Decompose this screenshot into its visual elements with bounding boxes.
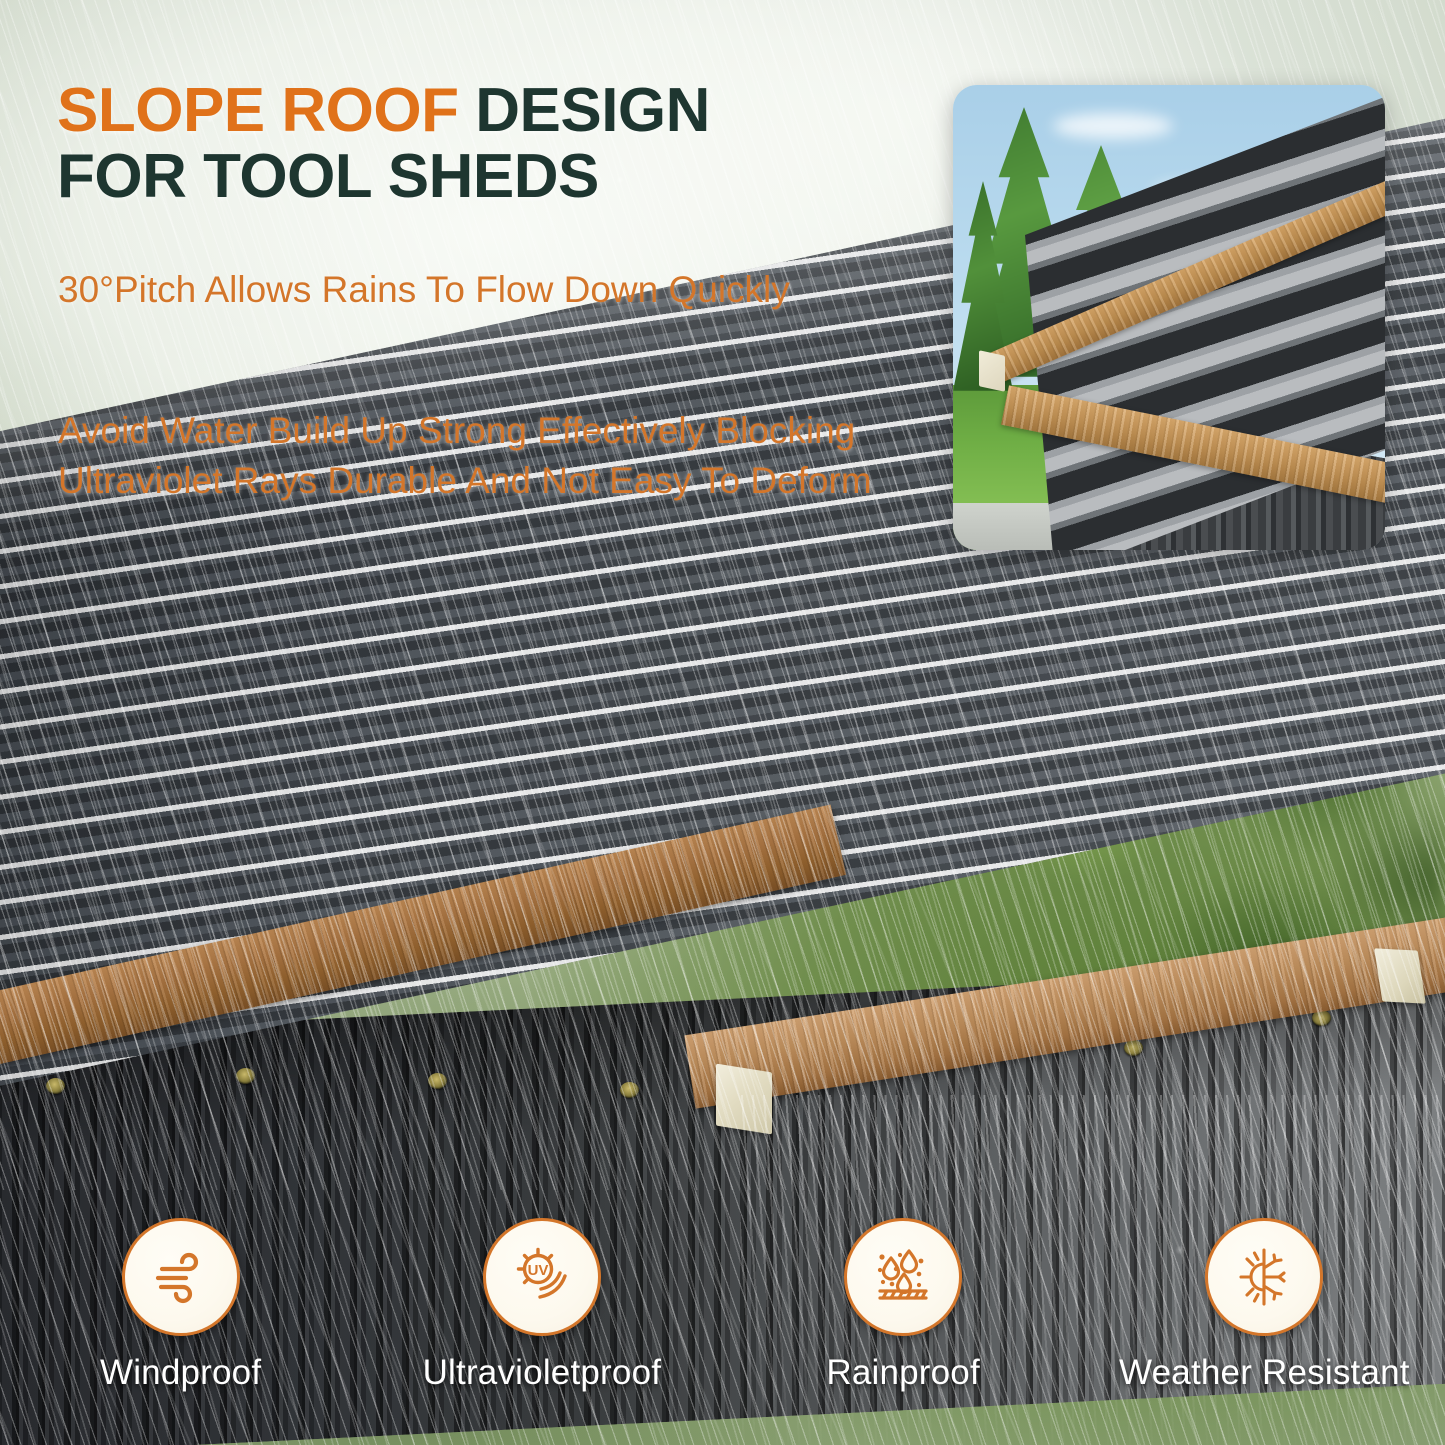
- raindrop-icon: [870, 1244, 936, 1310]
- feature-list: Windproof UV Ul: [0, 1218, 1445, 1433]
- inset-cloud: [1053, 113, 1173, 139]
- feature-label: Windproof: [100, 1353, 261, 1393]
- page-title: SLOPE ROOF DESIGN FOR TOOL SHEDS: [57, 78, 937, 211]
- feature-label: Rainproof: [826, 1353, 980, 1393]
- uv-sun-icon: UV: [509, 1244, 575, 1310]
- feature-badge: [1205, 1218, 1323, 1336]
- feature-item-ultravioletproof: UV Ultravioletproof: [392, 1218, 692, 1393]
- svg-text:UV: UV: [527, 1262, 548, 1279]
- feature-label: Weather Resistant: [1119, 1353, 1410, 1393]
- feature-label: Ultravioletproof: [423, 1353, 662, 1393]
- inset-corner-endcap: [979, 350, 1005, 392]
- subhead-pitch: 30°Pitch Allows Rains To Flow Down Quick…: [58, 265, 878, 314]
- headline-part-dark: DESIGN: [475, 76, 710, 145]
- product-infographic: SLOPE ROOF DESIGN FOR TOOL SHEDS 30°Pitc…: [0, 0, 1445, 1445]
- wind-icon: [148, 1244, 214, 1310]
- headline-line-two: FOR TOOL SHEDS: [57, 142, 599, 211]
- feature-badge: UV: [483, 1218, 601, 1336]
- headline-part-orange: SLOPE ROOF: [57, 76, 475, 145]
- feature-item-windproof: Windproof: [31, 1218, 331, 1393]
- feature-item-weather-resistant: Weather Resistant: [1114, 1218, 1414, 1393]
- feature-item-rainproof: Rainproof: [753, 1218, 1053, 1393]
- sun-snowflake-icon: [1231, 1244, 1297, 1310]
- subhead-benefits: Avoid Water Build Up Strong Effectively …: [58, 406, 888, 507]
- inset-photo: [953, 85, 1385, 550]
- feature-badge: [122, 1218, 240, 1336]
- feature-badge: [844, 1218, 962, 1336]
